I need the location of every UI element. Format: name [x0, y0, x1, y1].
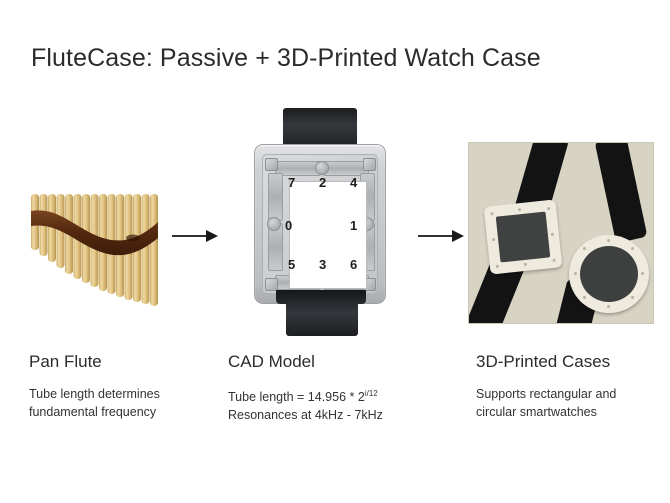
- printed-cases-body-line-2: circular smartwatches: [476, 403, 616, 421]
- pan-flute-body: Tube length determines fundamental frequ…: [29, 385, 160, 421]
- cad-resonance-line: Resonances at 4kHz - 7kHz: [228, 406, 383, 424]
- arrow-shaft: [418, 235, 454, 237]
- cad-model-heading: CAD Model: [228, 352, 315, 372]
- cad-formula-exponent: i/12: [365, 389, 378, 398]
- pan-flute-heading: Pan Flute: [29, 352, 102, 372]
- pan-flute-body-line-2: fundamental frequency: [29, 403, 160, 421]
- watch-strap-bottom: [286, 298, 358, 336]
- printed-cases-body-line-1: Supports rectangular and: [476, 385, 616, 403]
- cad-model-body: Tube length = 14.956 * 2i/12 Resonances …: [228, 385, 383, 424]
- screw-top-right: [363, 158, 376, 171]
- printed-cases-body: Supports rectangular and circular smartw…: [476, 385, 616, 421]
- tube-label-top-center: 2: [319, 175, 326, 190]
- column-printed-cases: 3D-Printed Cases Supports rectangular an…: [455, 0, 670, 503]
- tube-label-top-right: 4: [350, 175, 357, 190]
- tube-label-top-left: 7: [288, 175, 295, 190]
- tube-channel-left-upper: [268, 173, 283, 221]
- port-top-center: [315, 161, 329, 175]
- tube-label-mid-right: 1: [350, 218, 357, 233]
- tube-label-bottom-left: 5: [288, 257, 295, 272]
- tube-label-mid-left: 0: [285, 218, 292, 233]
- cad-watch-model: 7 2 4 0 1 5 3 6: [236, 108, 404, 336]
- pan-flute-photo: [25, 186, 175, 306]
- tube-label-bottom-center: 3: [319, 257, 326, 272]
- watch-screen: [289, 181, 367, 289]
- watch-case-outer: 7 2 4 0 1 5 3 6: [254, 144, 386, 304]
- cad-formula-base: Tube length = 14.956 * 2: [228, 390, 365, 404]
- port-left-center: [267, 217, 281, 231]
- arrow-shaft: [172, 235, 208, 237]
- printed-cases-heading: 3D-Printed Cases: [476, 352, 610, 372]
- pan-flute-body-line-1: Tube length determines: [29, 385, 160, 403]
- cad-formula: Tube length = 14.956 * 2i/12: [228, 385, 383, 406]
- arrow-right-icon-1: [172, 229, 220, 243]
- column-pan-flute: Pan Flute Tube length determines fundame…: [0, 0, 200, 503]
- tube-label-bottom-right: 6: [350, 257, 357, 272]
- screw-top-left: [265, 158, 278, 171]
